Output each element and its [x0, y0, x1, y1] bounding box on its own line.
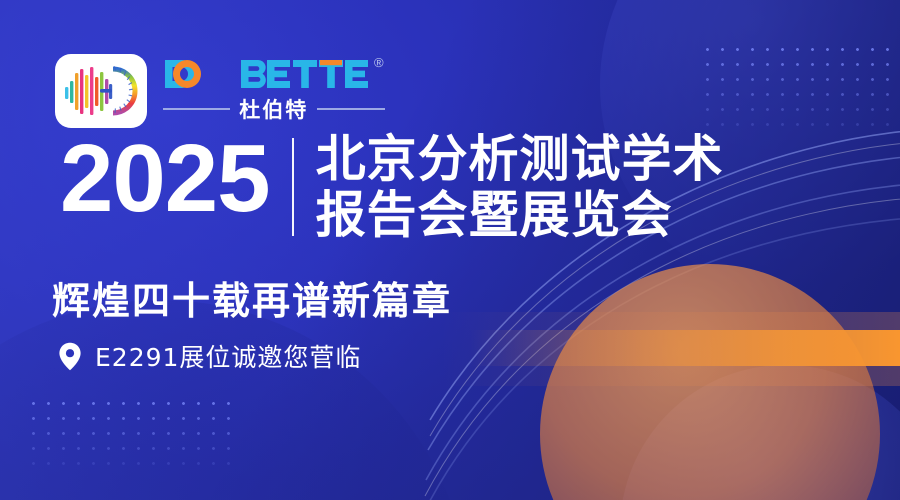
location-pin-icon	[58, 342, 82, 371]
background-sphere-mid	[620, 365, 900, 500]
headline-line-1: 北京分析测试学术	[316, 132, 724, 186]
title-divider	[292, 138, 294, 236]
bgc-spectrum-logo-icon	[55, 54, 147, 128]
event-headline: 北京分析测试学术 报告会暨展览会	[294, 132, 724, 242]
background-sphere-orange	[540, 264, 880, 500]
event-banner: ® 杜伯特 2025 北京分析测试学术 报告会暨展览会 辉煌四十载再谱新篇章 E…	[0, 0, 900, 500]
brand-wordmark-group: ® 杜伯特	[163, 58, 385, 124]
dot-grid-bottom-left	[26, 396, 240, 474]
orange-band-glow	[440, 312, 900, 386]
booth-text: E2291展位诚邀您菅临	[95, 338, 361, 374]
brand-wordmark: ®	[163, 58, 385, 92]
background-sphere-dim	[0, 300, 470, 500]
brand-lockup: ® 杜伯特	[55, 54, 385, 128]
event-year: 2025	[60, 132, 292, 226]
dot-grid-top-right	[700, 42, 900, 126]
brand-chinese-row: 杜伯特	[163, 94, 385, 124]
event-subtitle: 辉煌四十载再谱新篇章	[52, 270, 452, 325]
headline-line-2: 报告会暨展览会	[316, 188, 724, 242]
orange-accent-band	[470, 330, 900, 366]
title-block: 2025 北京分析测试学术 报告会暨展览会	[60, 132, 724, 242]
booth-info: E2291展位诚邀您菅临	[58, 338, 361, 374]
registered-trademark-icon: ®	[374, 56, 385, 69]
divider-right	[317, 108, 384, 110]
brand-chinese-name: 杜伯特	[239, 94, 308, 124]
divider-left	[163, 108, 230, 110]
